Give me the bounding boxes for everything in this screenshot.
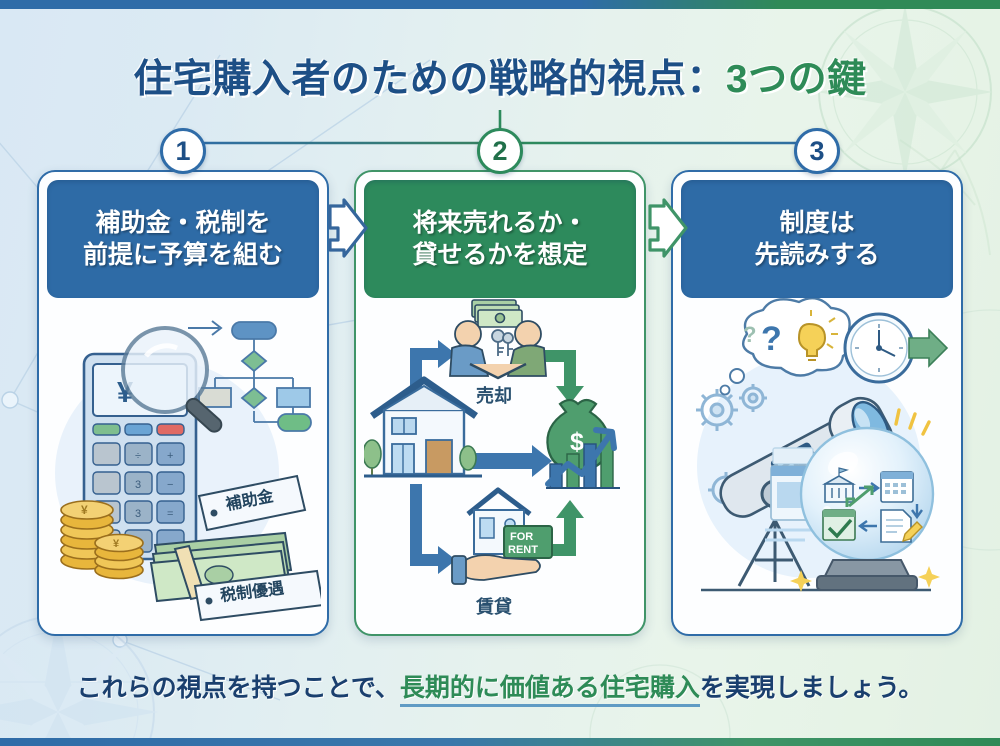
card-2-illustration: 売却 FOR RENT 賃貸: [364, 298, 636, 630]
rent-label: 賃貸: [475, 596, 512, 617]
svg-text:−: −: [167, 479, 173, 491]
question-mark-icon: ?: [761, 320, 782, 358]
svg-text:+: +: [167, 450, 173, 462]
page-title-lead: 住宅購入者のための戦略的視点：: [133, 58, 726, 101]
svg-text:3: 3: [135, 479, 141, 491]
card-3-illustration: ? ?: [681, 298, 953, 630]
card-3-header: 制度は 先読みする: [681, 180, 953, 298]
arrow-card2-to-card3: [646, 198, 690, 258]
svg-text:¥: ¥: [113, 538, 120, 550]
card-3-heading: 制度は 先読みする: [754, 207, 879, 272]
card-1-heading: 補助金・税制を 前提に予算を組む: [83, 207, 283, 272]
card-2-badge: 2: [477, 128, 523, 174]
page-title: 住宅購入者のための戦略的視点：3つの鍵: [0, 48, 1000, 104]
house-icon: [364, 380, 482, 476]
bottom-accent-strip: [0, 738, 1000, 746]
card-3[interactable]: 3 制度は 先読みする: [671, 170, 963, 636]
calendar-check-icon: [823, 510, 855, 540]
card-1-badge: 1: [160, 128, 206, 174]
footer-lead: これらの視点を持つことで、: [77, 674, 400, 702]
card-3-badge: 3: [794, 128, 840, 174]
top-accent-strip: [0, 0, 1000, 9]
calendar-icon: [881, 472, 913, 502]
crystal-ball-icon: [801, 428, 933, 560]
footer-accent: 長期的に価値ある住宅購入: [400, 674, 700, 707]
cards-row: 1 補助金・税制を 前提に予算を組む: [0, 170, 1000, 640]
sell-label: 売却: [476, 385, 512, 406]
crystal-ball-base: [817, 560, 917, 590]
forward-arrow-icon: [188, 321, 221, 335]
for-rent-sign-line2: RENT: [508, 544, 538, 556]
card-2-heading: 将来売れるか・ 貸せるかを想定: [412, 207, 587, 272]
question-mark-icon-small: ?: [743, 322, 756, 347]
banknotes-icon: [472, 300, 522, 327]
clock-icon: [845, 314, 947, 382]
card-1-illustration: ¥: [47, 298, 319, 630]
card-1-header: 補助金・税制を 前提に予算を組む: [47, 180, 319, 298]
footer-tail: を実現しましょう。: [700, 674, 924, 702]
forward-arrow-icon: [909, 330, 947, 366]
handshake-icon: 売却: [450, 300, 546, 406]
footer-caption: これらの視点を持つことで、長期的に価値ある住宅購入を実現しましょう。: [0, 668, 1000, 704]
svg-text:3: 3: [135, 508, 141, 520]
svg-text:=: =: [167, 508, 173, 520]
svg-text:¥: ¥: [81, 503, 88, 517]
arrow-card1-to-card2: [326, 198, 370, 258]
infographic-canvas: 住宅購入者のための戦略的視点：3つの鍵 1 補助金・税制を 前提に予算を組む: [0, 0, 1000, 746]
money-symbol: $: [570, 428, 584, 456]
for-rent-icon: FOR RENT 賃貸: [452, 490, 552, 617]
card-2-header: 将来売れるか・ 貸せるかを想定: [364, 180, 636, 298]
svg-text:÷: ÷: [135, 450, 141, 462]
for-rent-sign-line1: FOR: [510, 531, 533, 543]
card-1[interactable]: 1 補助金・税制を 前提に予算を組む: [37, 170, 329, 636]
page-title-accent: 3つの鍵: [726, 58, 867, 101]
keys-icon: [492, 330, 513, 356]
card-2[interactable]: 2 将来売れるか・ 貸せるかを想定: [354, 170, 646, 636]
